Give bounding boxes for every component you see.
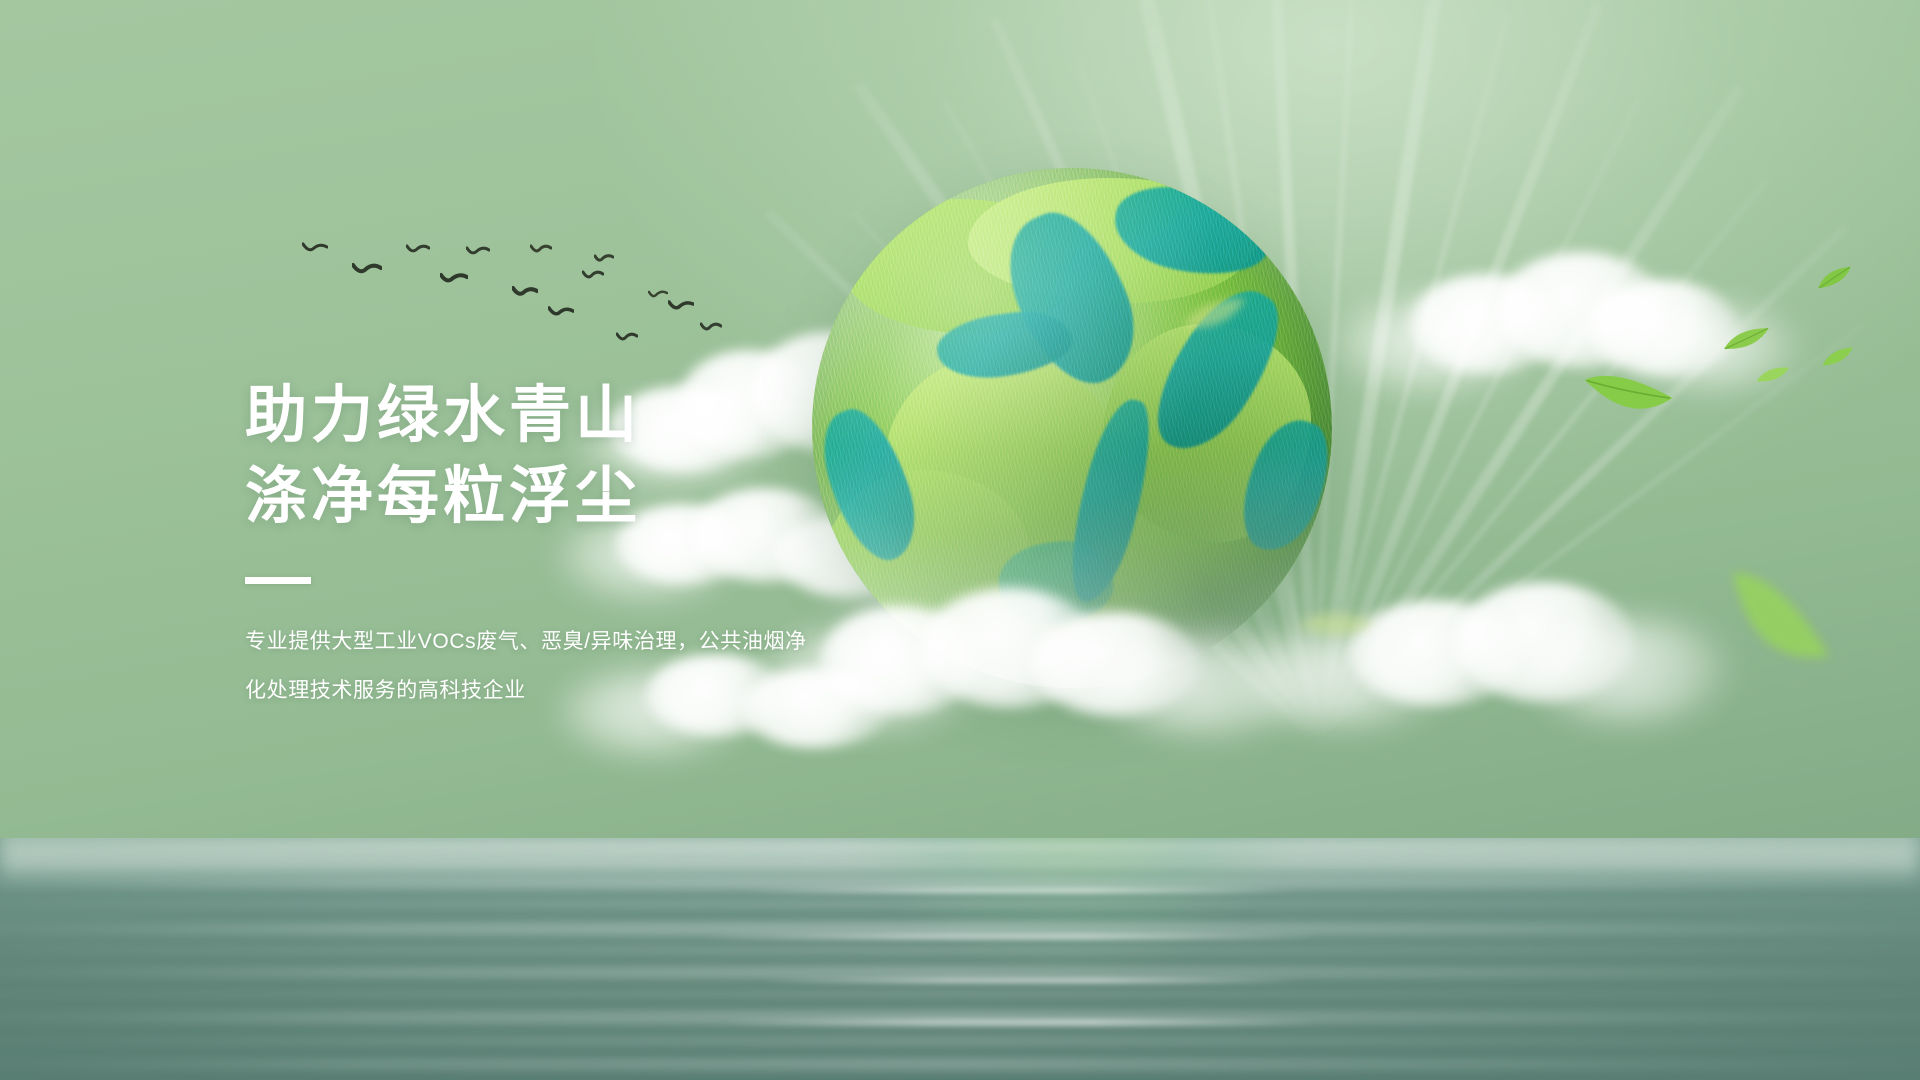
bird-icon bbox=[548, 306, 574, 322]
bird-icon bbox=[648, 290, 668, 302]
hero-copy: 助力绿水青山 涤净每粒浮尘 专业提供大型工业VOCs废气、恶臭/异味治理，公共油… bbox=[245, 376, 965, 712]
bird-icon bbox=[302, 242, 328, 258]
leaf-icon bbox=[1818, 345, 1857, 370]
water-surface bbox=[0, 838, 1920, 1080]
leaf-icon bbox=[1697, 553, 1834, 700]
bird-icon bbox=[406, 244, 430, 259]
hero-banner: 助力绿水青山 涤净每粒浮尘 专业提供大型工业VOCs废气、恶臭/异味治理，公共油… bbox=[0, 0, 1920, 1080]
leaf-icon bbox=[1573, 362, 1675, 437]
bird-icon bbox=[582, 270, 604, 284]
bird-icon bbox=[700, 322, 722, 335]
bird-icon bbox=[440, 272, 468, 289]
cloud-cluster-right bbox=[1340, 240, 1760, 440]
headline-divider bbox=[245, 577, 311, 584]
leaf-icon bbox=[1813, 264, 1857, 295]
leaf-icon bbox=[1754, 366, 1792, 387]
leaf-icon bbox=[1720, 325, 1773, 357]
bird-icon bbox=[530, 244, 552, 258]
headline-line-1: 助力绿水青山 bbox=[245, 376, 965, 457]
bird-icon bbox=[466, 246, 490, 260]
bird-icon bbox=[616, 332, 638, 345]
subtitle-line-1: 专业提供大型工业VOCs废气、恶臭/异味治理，公共油烟净 bbox=[245, 620, 965, 663]
headline-line-2: 涤净每粒浮尘 bbox=[245, 457, 965, 538]
bird-icon bbox=[594, 254, 614, 266]
subtitle-line-2: 化处理技术服务的高科技企业 bbox=[245, 669, 965, 712]
bird-icon bbox=[668, 300, 694, 315]
bird-icon bbox=[512, 286, 538, 302]
bird-icon bbox=[352, 262, 382, 280]
